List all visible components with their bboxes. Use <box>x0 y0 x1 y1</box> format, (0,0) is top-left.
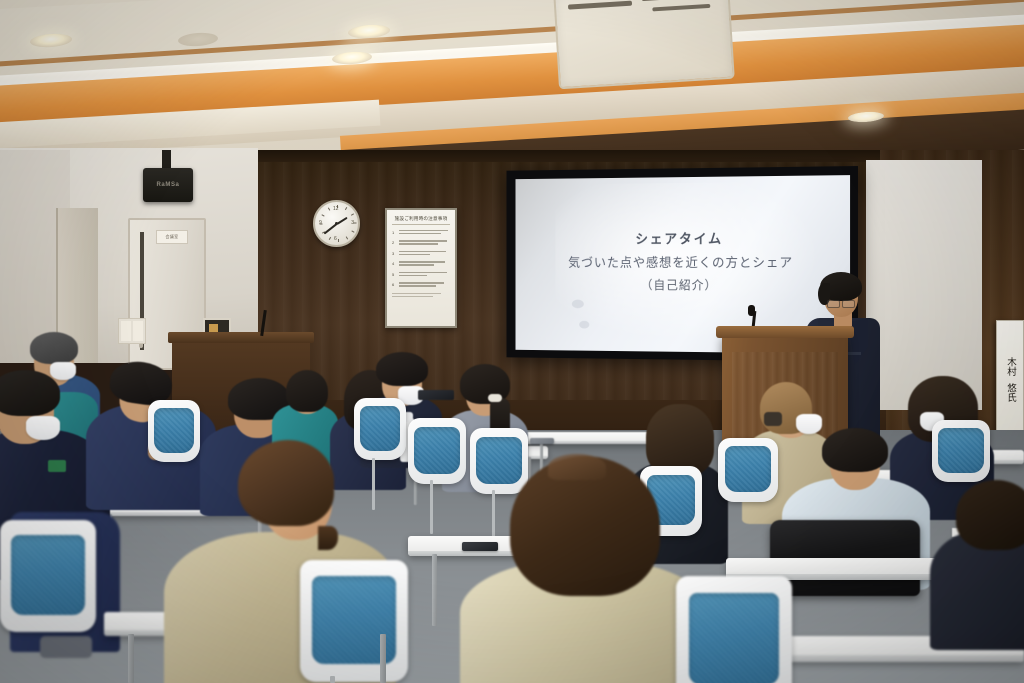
poster-item-number: 3 <box>392 251 397 257</box>
hair-clip <box>764 412 782 426</box>
speaker-name-banner: 木村 悠氏 <box>996 320 1024 438</box>
chair[interactable] <box>408 418 466 484</box>
speaker-brand-label: RaMSa <box>156 182 179 188</box>
chair-leg <box>372 458 375 510</box>
slide-title: シェアタイム <box>515 227 850 248</box>
table-leg <box>432 554 437 626</box>
poster-item-number: 6 <box>392 282 397 288</box>
jacket-badge <box>48 460 66 472</box>
chair[interactable] <box>470 428 528 494</box>
slide-note: （自己紹介） <box>515 274 850 293</box>
right-wall-panel <box>866 160 982 410</box>
seminar-room-photo: 会議室 RaMSa 12 3 6 9 施設ご利用時の注意事項 1 2 3 4 <box>0 0 1024 683</box>
table-leg <box>128 634 134 683</box>
person-hair <box>376 352 428 386</box>
poster-item-number: 5 <box>392 272 397 278</box>
ceiling-speaker: RaMSa <box>143 168 193 202</box>
presenter-glasses-right <box>842 300 855 308</box>
person-hair <box>286 370 328 412</box>
chair[interactable] <box>932 420 990 482</box>
person-hair <box>238 440 334 526</box>
clock-numeral: 9 <box>319 220 322 226</box>
chair[interactable] <box>300 560 408 682</box>
person-shoe <box>40 636 92 658</box>
tablet <box>530 438 554 444</box>
banner-name: 木村 <box>1004 357 1016 376</box>
chair[interactable] <box>148 400 200 462</box>
poster-item-number: 4 <box>392 261 397 267</box>
door-sign: 会議室 <box>156 230 188 244</box>
poster-item-number: 2 <box>392 240 397 246</box>
hair-tie <box>488 394 502 402</box>
slide-content: シェアタイム 気づいた点や感想を近くの方とシェア （自己紹介） <box>515 227 850 294</box>
person-hair-strand <box>318 526 338 550</box>
chair[interactable] <box>676 576 792 683</box>
clock-numeral: 3 <box>351 220 354 226</box>
chair[interactable] <box>0 520 96 632</box>
poster-item-number: 1 <box>392 230 397 236</box>
wall-clock: 12 3 6 9 <box>313 200 360 247</box>
wall-notice-poster: 施設ご利用時の注意事項 1 2 3 4 5 6 <box>385 208 457 328</box>
chair-leg <box>492 490 495 542</box>
clock-numeral: 6 <box>334 236 337 242</box>
back-counter-top <box>168 332 314 343</box>
clock-center-pin <box>335 222 338 225</box>
presenter-glasses-left <box>827 300 840 308</box>
table-leg <box>380 634 386 683</box>
chair[interactable] <box>718 438 778 502</box>
chair[interactable] <box>354 398 406 460</box>
poster-title: 施設ご利用時の注意事項 <box>392 216 450 225</box>
person-hair <box>30 332 78 364</box>
smartphone <box>462 542 498 551</box>
presenter-pocket <box>848 352 861 355</box>
slide-subtitle: 気づいた点や感想を近くの方とシェア <box>515 252 850 271</box>
face-mask <box>26 416 60 440</box>
air-conditioner-vent <box>553 0 735 89</box>
person-hair-highlight <box>548 454 606 480</box>
chair-leg <box>330 676 335 683</box>
banner-honorific: 悠氏 <box>1004 383 1016 402</box>
chair-leg <box>430 480 433 534</box>
person-hair <box>822 428 888 472</box>
light-switch-panel[interactable] <box>118 318 146 344</box>
face-mask <box>50 362 76 380</box>
clock-numeral: 12 <box>333 206 339 212</box>
person-hair <box>956 480 1024 550</box>
person-hair <box>0 370 60 416</box>
notebook <box>418 390 454 400</box>
face-mask <box>796 414 822 434</box>
